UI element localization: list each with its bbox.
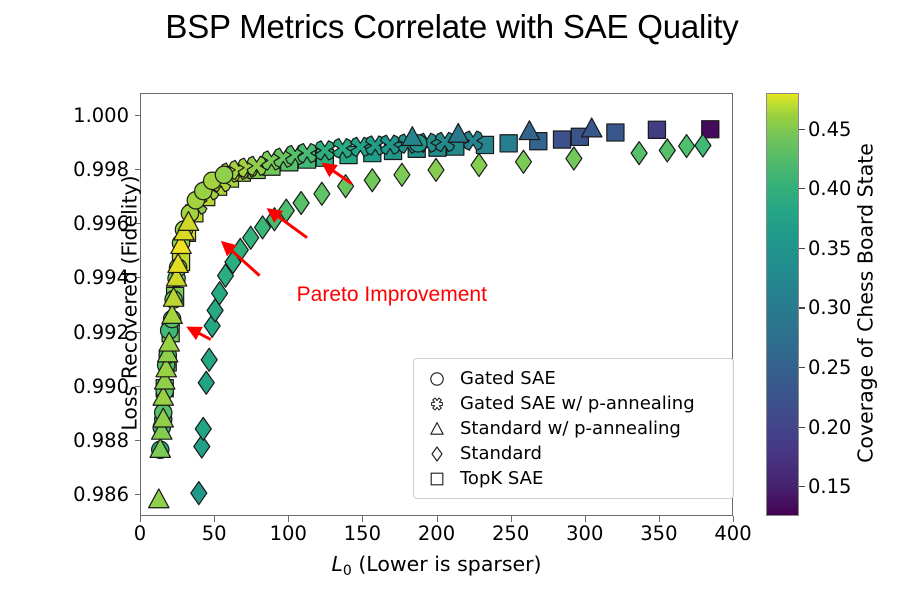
colorbar-tick-label: 0.25: [808, 356, 851, 379]
data-point: [364, 169, 380, 192]
legend: Gated SAE Gated SAE w/ p-annealing Stand…: [413, 358, 734, 499]
colorbar-tick-mark: [799, 307, 805, 308]
legend-label: Gated SAE w/ p-annealing: [460, 393, 695, 414]
x-tick-label: 0: [110, 522, 170, 545]
data-point: [293, 191, 309, 214]
data-point: [500, 135, 517, 152]
x-tick-label: 50: [184, 522, 244, 545]
x-tick-mark: [362, 516, 363, 522]
data-point: [201, 348, 217, 371]
square-icon: [414, 470, 460, 488]
x-tick-label: 300: [555, 522, 615, 545]
x-tick-label: 150: [332, 522, 392, 545]
colorbar: 0.150.200.250.300.350.400.45 Coverage of…: [766, 93, 799, 516]
x-marker-icon: [414, 395, 460, 413]
x-axis-subscript: 0: [343, 563, 352, 579]
x-tick-label: 100: [258, 522, 318, 545]
colorbar-tick-label: 0.20: [808, 416, 851, 439]
colorbar-tick-label: 0.45: [808, 118, 851, 141]
circle-icon: [414, 370, 460, 388]
x-tick-mark: [140, 516, 141, 522]
colorbar-tick-mark: [799, 427, 805, 428]
legend-label: Gated SAE: [460, 368, 556, 389]
x-tick-mark: [585, 516, 586, 522]
data-point: [471, 154, 487, 177]
colorbar-tick-mark: [799, 188, 805, 189]
x-axis-rest: (Lower is sparser): [352, 552, 542, 576]
x-tick-label: 200: [407, 522, 467, 545]
x-tick-label: 350: [629, 522, 689, 545]
legend-item-topk-sae: TopK SAE: [414, 466, 733, 491]
diamond-icon: [414, 445, 460, 463]
x-tick-label: 400: [703, 522, 763, 545]
colorbar-tick-mark: [799, 248, 805, 249]
x-tick-mark: [437, 516, 438, 522]
triangle-icon: [414, 420, 460, 438]
data-point: [566, 147, 582, 170]
x-tick-mark: [659, 516, 660, 522]
colorbar-tick-mark: [799, 129, 805, 130]
pareto-arrow: [325, 165, 352, 183]
colorbar-gradient: [766, 93, 799, 516]
data-point: [149, 489, 169, 508]
colorbar-tick-mark: [799, 486, 805, 487]
x-tick-label: 250: [481, 522, 541, 545]
data-point: [631, 142, 647, 165]
data-point: [659, 139, 675, 162]
colorbar-tick-mark: [799, 367, 805, 368]
legend-label: Standard: [460, 443, 542, 464]
y-axis-label: Loss Recovered (Fidelity): [117, 91, 141, 514]
x-axis-symbol: L: [331, 552, 342, 576]
data-point: [515, 150, 531, 173]
data-point: [648, 121, 665, 138]
figure-container: BSP Metrics Correlate with SAE Quality P…: [0, 0, 904, 595]
x-axis-label: L0 (Lower is sparser): [140, 552, 733, 579]
x-tick-mark: [288, 516, 289, 522]
data-point: [553, 131, 570, 148]
data-point: [215, 166, 232, 183]
colorbar-tick-label: 0.35: [808, 237, 851, 260]
data-point: [679, 135, 695, 158]
legend-item-standard: Standard: [414, 441, 733, 466]
data-point: [195, 417, 211, 440]
data-point: [519, 121, 539, 140]
legend-label: Standard w/ p-annealing: [460, 418, 681, 439]
data-point: [394, 163, 410, 186]
colorbar-tick-label: 0.30: [808, 296, 851, 319]
x-tick-mark: [214, 516, 215, 522]
colorbar-label: Coverage of Chess Board State: [853, 91, 877, 514]
colorbar-tick-label: 0.40: [808, 177, 851, 200]
pareto-improvement-annotation: Pareto Improvement: [297, 283, 487, 307]
legend-label: TopK SAE: [460, 468, 543, 489]
data-point: [191, 482, 207, 505]
data-point: [581, 118, 601, 137]
x-tick-mark: [733, 516, 734, 522]
data-point: [314, 182, 330, 205]
page-title: BSP Metrics Correlate with SAE Quality: [0, 8, 904, 46]
colorbar-tick-label: 0.15: [808, 475, 851, 498]
legend-item-standard-p-annealing: Standard w/ p-annealing: [414, 416, 733, 441]
legend-item-gated-sae-p-annealing: Gated SAE w/ p-annealing: [414, 391, 733, 416]
data-point: [198, 371, 214, 394]
plot-area: Pareto Improvement Gated SAE Gated SAE w…: [140, 93, 733, 516]
legend-item-gated-sae: Gated SAE: [414, 366, 733, 391]
x-tick-mark: [511, 516, 512, 522]
data-point: [428, 158, 444, 181]
data-point: [607, 124, 624, 141]
